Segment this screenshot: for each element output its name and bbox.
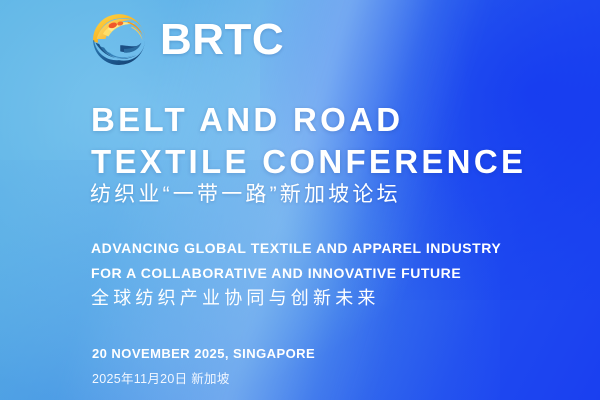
headline-line-2: TEXTILE CONFERENCE bbox=[91, 141, 526, 183]
subtitle-line-2: FOR A COLLABORATIVE AND INNOVATIVE FUTUR… bbox=[91, 261, 501, 286]
title-chinese: 纺织业“一带一路”新加坡论坛 bbox=[90, 182, 401, 207]
event-date-location-chinese: 2025年11月20日 新加坡 bbox=[92, 372, 230, 387]
brand-wordmark: BRTC bbox=[160, 18, 284, 62]
brand-lockup: BRTC bbox=[88, 8, 284, 70]
page-title: BELT AND ROAD TEXTILE CONFERENCE bbox=[91, 99, 526, 183]
brtc-circular-wave-logo-icon bbox=[88, 8, 150, 70]
event-date-location: 20 NOVEMBER 2025, SINGAPORE bbox=[92, 346, 315, 362]
subtitle-line-1: ADVANCING GLOBAL TEXTILE AND APPAREL IND… bbox=[91, 236, 501, 261]
conference-poster: BRTC BELT AND ROAD TEXTILE CONFERENCE 纺织… bbox=[0, 0, 600, 400]
subtitle-chinese: 全球纺织产业协同与创新未来 bbox=[91, 288, 380, 310]
subtitle: ADVANCING GLOBAL TEXTILE AND APPAREL IND… bbox=[91, 236, 501, 286]
headline-line-1: BELT AND ROAD bbox=[91, 99, 526, 141]
